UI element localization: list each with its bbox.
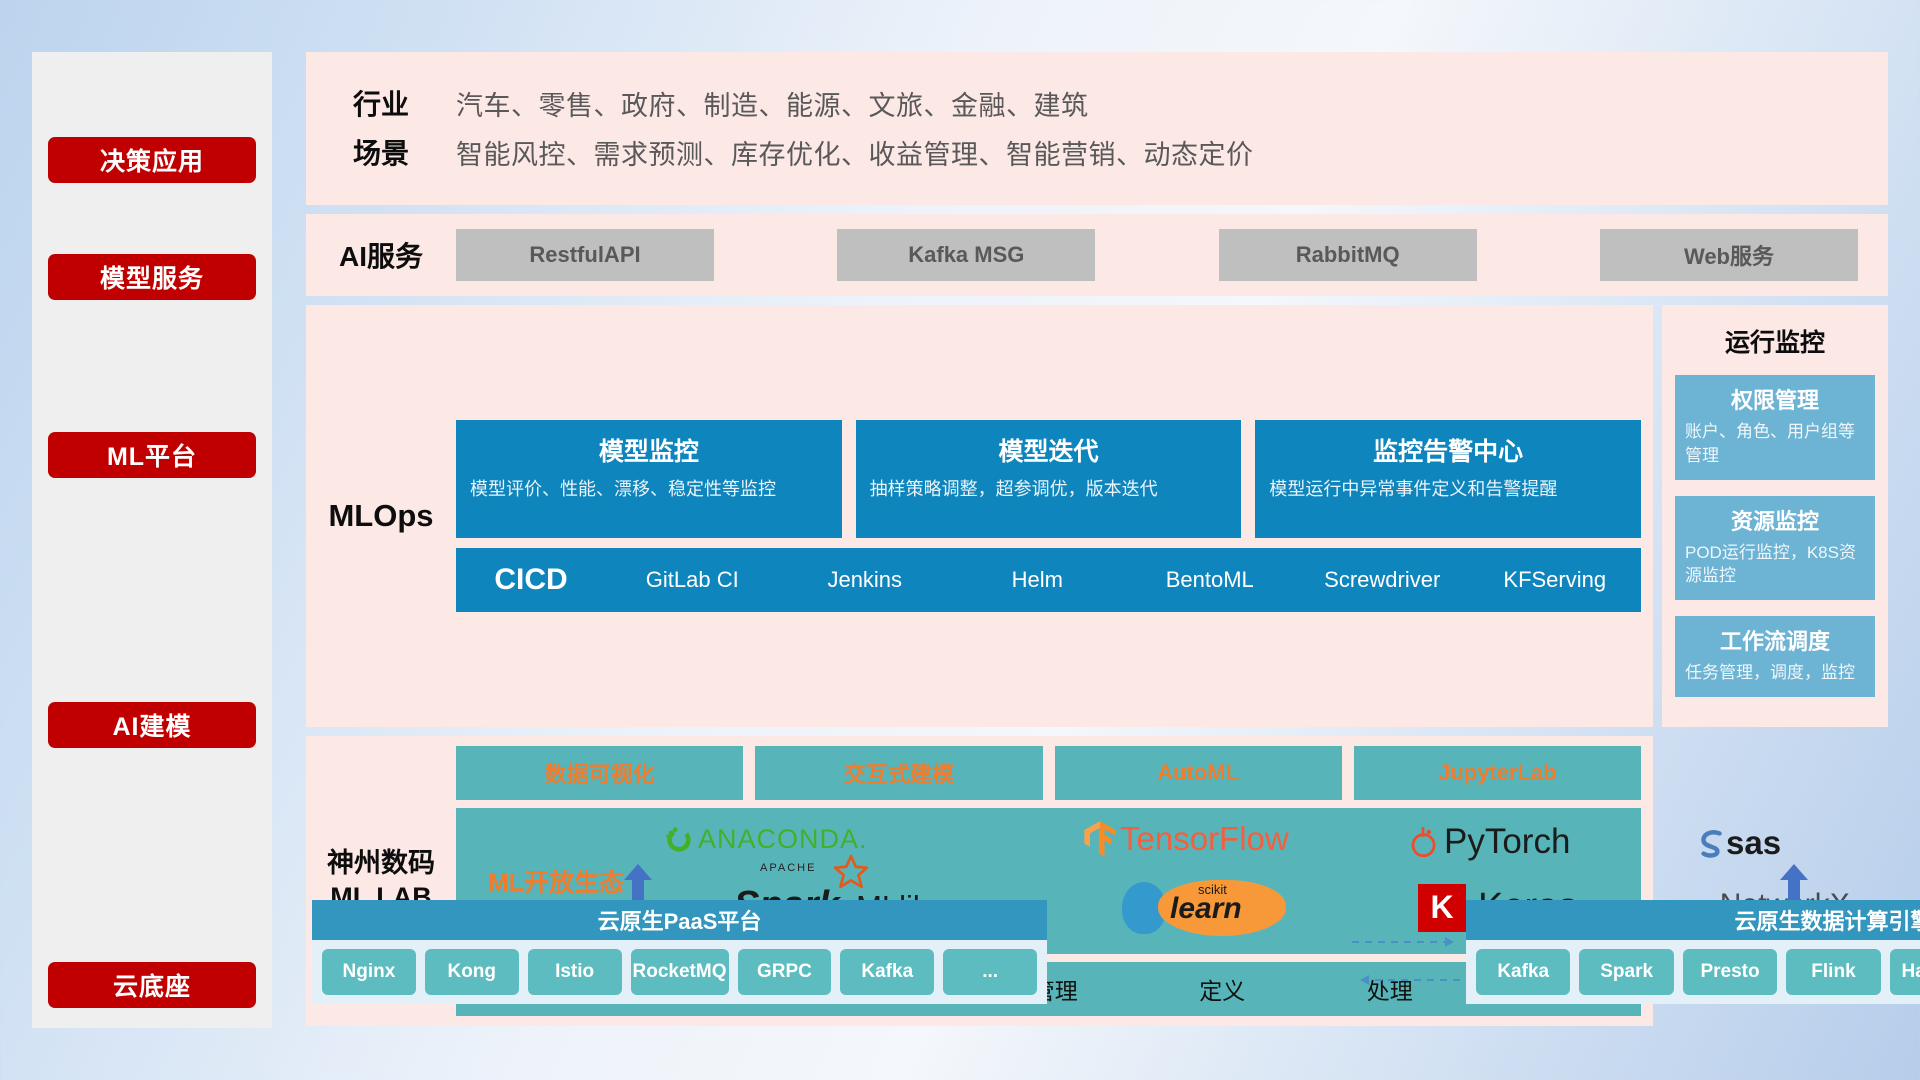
cloud-native-paas-title: 云原生PaaS平台 bbox=[312, 900, 1047, 940]
card-title: 模型迭代 bbox=[870, 432, 1228, 468]
cicd-row: CICD GitLab CI Jenkins Helm BentoML Scre… bbox=[456, 548, 1641, 612]
mlops-card-model-monitoring[interactable]: 模型监控 模型评价、性能、漂移、稳定性等监控 bbox=[456, 420, 842, 538]
cloud-base-section: 云原生PaaS平台 Nginx Kong Istio RocketMQ GRPC… bbox=[306, 862, 1888, 1032]
paas-chip-rocketmq[interactable]: RocketMQ bbox=[631, 949, 729, 995]
engine-chip-flink[interactable]: Flink bbox=[1786, 949, 1880, 995]
mlops-label: MLOps bbox=[306, 498, 456, 534]
cloud-native-data-engine-chip-list: Kafka Spark Presto Flink Hadoop Storm ..… bbox=[1466, 940, 1920, 1004]
cicd-tool-gitlab-ci[interactable]: GitLab CI bbox=[606, 568, 779, 591]
pytorch-icon bbox=[1406, 824, 1440, 860]
pytorch-label: PyTorch bbox=[1444, 822, 1570, 862]
tool-chip-interactive-modeling[interactable]: 交互式建模 bbox=[755, 746, 1042, 800]
ai-service-chip-restfulapi[interactable]: RestfulAPI bbox=[456, 229, 714, 281]
up-arrow-left-icon bbox=[618, 862, 658, 902]
mlops-card-list: 模型监控 模型评价、性能、漂移、稳定性等监控 模型迭代 抽样策略调整，超参调优，… bbox=[456, 420, 1641, 538]
tool-chip-data-visualization[interactable]: 数据可视化 bbox=[456, 746, 743, 800]
engine-chip-presto[interactable]: Presto bbox=[1683, 949, 1777, 995]
scenario-row: 场景 智能风控、需求预测、库存优化、收益管理、智能营销、动态定价 bbox=[306, 132, 1888, 172]
rail-item-ai-modeling[interactable]: AI建模 bbox=[48, 702, 256, 748]
ai-service-band: AI服务 RestfulAPI Kafka MSG RabbitMQ Web服务 bbox=[306, 214, 1888, 296]
sas-logo: sas bbox=[1694, 824, 1781, 862]
tensorflow-label: TensorFlow bbox=[1120, 820, 1289, 858]
cloud-native-data-engine-title: 云原生数据计算引擎 bbox=[1466, 900, 1920, 940]
cloud-native-paas-chip-list: Nginx Kong Istio RocketMQ GRPC Kafka ... bbox=[312, 940, 1047, 1004]
rail-item-ml-platform[interactable]: ML平台 bbox=[48, 432, 256, 478]
tool-chip-automl[interactable]: AutoML bbox=[1055, 746, 1342, 800]
industry-value: 汽车、零售、政府、制造、能源、文旅、金融、建筑 bbox=[456, 84, 1089, 123]
industry-row: 行业 汽车、零售、政府、制造、能源、文旅、金融、建筑 bbox=[306, 83, 1888, 123]
cicd-tool-list: GitLab CI Jenkins Helm BentoML Screwdriv… bbox=[606, 568, 1641, 591]
paas-chip-istio[interactable]: Istio bbox=[528, 949, 622, 995]
cicd-tool-helm[interactable]: Helm bbox=[951, 568, 1124, 591]
ml-lab-tool-list: 数据可视化 交互式建模 AutoML JupyterLab bbox=[456, 746, 1641, 800]
mlops-and-monitor-row: MLOps 模型监控 模型评价、性能、漂移、稳定性等监控 模型迭代 抽样策略调整… bbox=[306, 305, 1888, 727]
scenario-value: 智能风控、需求预测、库存优化、收益管理、智能营销、动态定价 bbox=[456, 133, 1254, 172]
anaconda-icon bbox=[664, 824, 694, 854]
card-title: 资源监控 bbox=[1685, 504, 1865, 536]
ai-service-chip-list: RestfulAPI Kafka MSG RabbitMQ Web服务 bbox=[456, 229, 1888, 281]
paas-chip-nginx[interactable]: Nginx bbox=[322, 949, 416, 995]
up-arrow-right-icon bbox=[1774, 862, 1814, 902]
paas-chip-more[interactable]: ... bbox=[943, 949, 1037, 995]
band-divider bbox=[306, 205, 1888, 214]
cicd-tool-jenkins[interactable]: Jenkins bbox=[779, 568, 952, 591]
cicd-tool-screwdriver[interactable]: Screwdriver bbox=[1296, 568, 1469, 591]
engine-chip-spark[interactable]: Spark bbox=[1579, 949, 1673, 995]
band-divider bbox=[306, 296, 1888, 305]
card-desc: 任务管理，调度，监控 bbox=[1685, 661, 1865, 685]
sas-label: sas bbox=[1726, 824, 1781, 862]
cicd-tool-bentoml[interactable]: BentoML bbox=[1124, 568, 1297, 591]
pytorch-logo: PyTorch bbox=[1406, 822, 1570, 862]
ai-service-chip-kafka-msg[interactable]: Kafka MSG bbox=[837, 229, 1095, 281]
card-desc: POD运行监控，K8S资源监控 bbox=[1685, 541, 1865, 589]
scenario-label: 场景 bbox=[306, 132, 456, 172]
engine-chip-kafka[interactable]: Kafka bbox=[1476, 949, 1570, 995]
tensorflow-logo: TensorFlow bbox=[1082, 820, 1289, 858]
card-title: 工作流调度 bbox=[1685, 624, 1865, 656]
left-rail: 决策应用 模型服务 ML平台 AI建模 云底座 bbox=[32, 52, 272, 1028]
rail-item-cloud-base[interactable]: 云底座 bbox=[48, 962, 256, 1008]
ai-service-chip-web-service[interactable]: Web服务 bbox=[1600, 229, 1858, 281]
cloud-native-data-engine-group: 云原生数据计算引擎 Kafka Spark Presto Flink Hadoo… bbox=[1466, 900, 1920, 1004]
paas-chip-kong[interactable]: Kong bbox=[425, 949, 519, 995]
tool-chip-jupyterlab[interactable]: JupyterLab bbox=[1354, 746, 1641, 800]
rail-item-decision-app[interactable]: 决策应用 bbox=[48, 137, 256, 183]
cicd-label: CICD bbox=[456, 563, 606, 597]
card-title: 权限管理 bbox=[1685, 383, 1865, 415]
card-desc: 账户、角色、用户组等管理 bbox=[1685, 420, 1865, 468]
sas-icon bbox=[1694, 826, 1728, 860]
tensorflow-icon bbox=[1082, 820, 1118, 858]
paas-chip-grpc[interactable]: GRPC bbox=[738, 949, 832, 995]
runtime-monitor-column: 运行监控 权限管理 账户、角色、用户组等管理 资源监控 POD运行监控，K8S资… bbox=[1662, 305, 1888, 727]
engine-chip-hadoop[interactable]: Hadoop bbox=[1890, 949, 1920, 995]
card-title: 模型监控 bbox=[470, 432, 828, 468]
mlops-card-alert-center[interactable]: 监控告警中心 模型运行中异常事件定义和告警提醒 bbox=[1255, 420, 1641, 538]
runtime-monitor-title: 运行监控 bbox=[1675, 323, 1875, 359]
industry-label: 行业 bbox=[306, 83, 456, 123]
card-desc: 抽样策略调整，超参调优，版本迭代 bbox=[870, 476, 1228, 502]
anaconda-label: ANACONDA. bbox=[698, 824, 868, 855]
ai-service-chip-rabbitmq[interactable]: RabbitMQ bbox=[1219, 229, 1477, 281]
mlops-band: MLOps 模型监控 模型评价、性能、漂移、稳定性等监控 模型迭代 抽样策略调整… bbox=[306, 305, 1653, 727]
monitor-card-resource[interactable]: 资源监控 POD运行监控，K8S资源监控 bbox=[1675, 496, 1875, 601]
ai-service-label: AI服务 bbox=[306, 235, 456, 275]
anaconda-logo: ANACONDA. bbox=[664, 824, 868, 855]
rail-item-model-service[interactable]: 模型服务 bbox=[48, 254, 256, 300]
cloud-native-paas-group: 云原生PaaS平台 Nginx Kong Istio RocketMQ GRPC… bbox=[312, 900, 1047, 1004]
mlops-card-model-iteration[interactable]: 模型迭代 抽样策略调整，超参调优，版本迭代 bbox=[856, 420, 1242, 538]
cicd-tool-kfserving[interactable]: KFServing bbox=[1469, 568, 1642, 591]
mlops-body: 模型监控 模型评价、性能、漂移、稳定性等监控 模型迭代 抽样策略调整，超参调优，… bbox=[456, 420, 1653, 612]
card-desc: 模型评价、性能、漂移、稳定性等监控 bbox=[470, 476, 828, 502]
industry-scenario-band: 行业 汽车、零售、政府、制造、能源、文旅、金融、建筑 场景 智能风控、需求预测、… bbox=[306, 52, 1888, 205]
bidirectional-dashed-link-icon bbox=[1346, 930, 1466, 994]
monitor-card-workflow[interactable]: 工作流调度 任务管理，调度，监控 bbox=[1675, 616, 1875, 697]
card-title: 监控告警中心 bbox=[1269, 432, 1627, 468]
paas-chip-kafka[interactable]: Kafka bbox=[840, 949, 934, 995]
monitor-card-permission[interactable]: 权限管理 账户、角色、用户组等管理 bbox=[1675, 375, 1875, 480]
card-desc: 模型运行中异常事件定义和告警提醒 bbox=[1269, 476, 1627, 502]
